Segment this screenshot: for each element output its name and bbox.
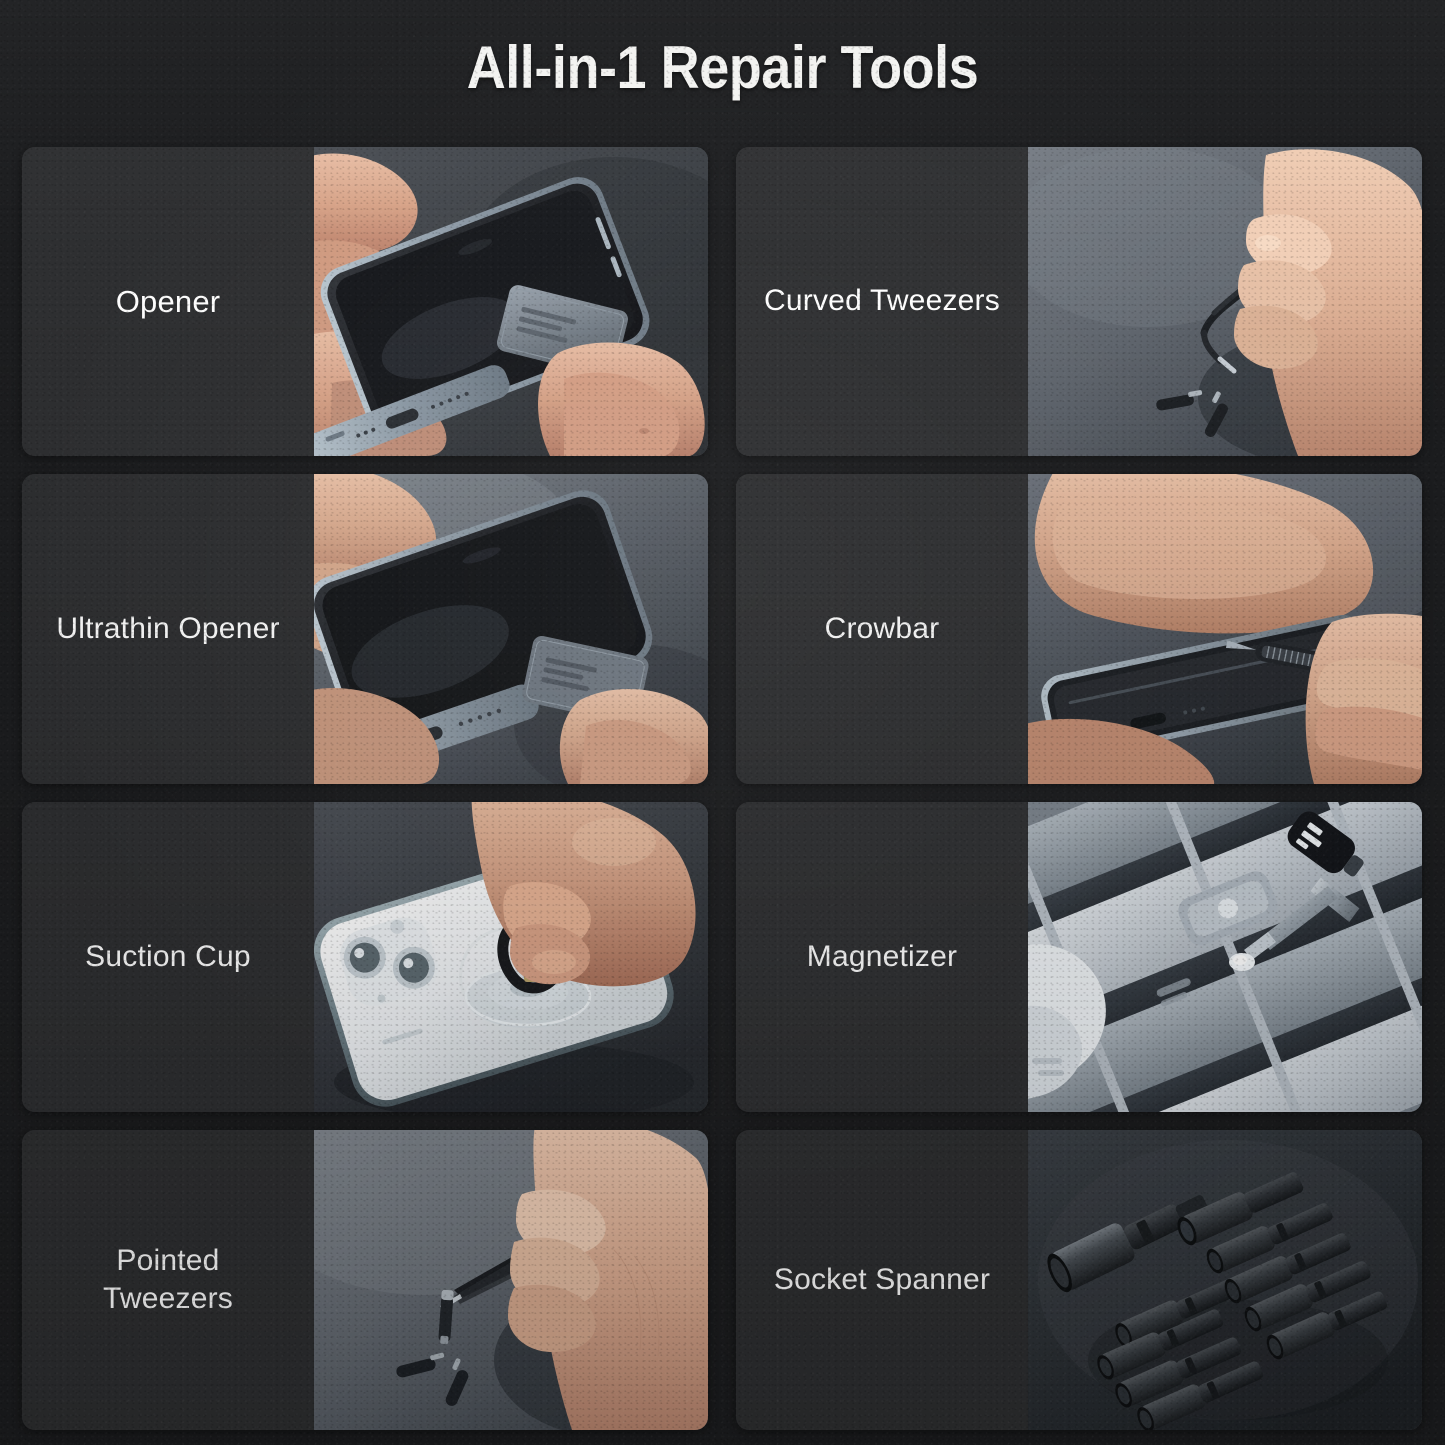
- tool-label: Suction Cup: [85, 938, 251, 976]
- tool-label: Crowbar: [825, 610, 940, 648]
- magnetizer-photo: [1028, 802, 1422, 1112]
- page-title: All-in-1 Repair Tools: [72, 33, 1373, 102]
- tool-card-curved-tweezers[interactable]: Curved Tweezers: [736, 147, 1422, 456]
- tool-card-crowbar[interactable]: Crowbar: [736, 474, 1422, 784]
- tool-label-pane: Magnetizer: [736, 802, 1028, 1112]
- tool-grid: Opener: [22, 147, 1422, 1422]
- socket-spanner-photo: [1028, 1130, 1422, 1430]
- opener-photo: [314, 147, 708, 456]
- tool-label: Socket Spanner: [774, 1261, 990, 1299]
- suction-cup-photo: [314, 802, 708, 1112]
- ultrathin-opener-photo: [314, 474, 708, 784]
- tool-card-magnetizer[interactable]: Magnetizer: [736, 802, 1422, 1112]
- tool-label-pane: Pointed Tweezers: [22, 1130, 314, 1430]
- tool-label-pane: Opener: [22, 147, 314, 456]
- tool-label-pane: Ultrathin Opener: [22, 474, 314, 784]
- crowbar-photo: [1028, 474, 1422, 784]
- tool-label-pane: Socket Spanner: [736, 1130, 1028, 1430]
- tool-card-suction-cup[interactable]: Suction Cup: [22, 802, 708, 1112]
- tool-card-pointed-tweezers[interactable]: Pointed Tweezers: [22, 1130, 708, 1430]
- tool-label: Pointed Tweezers: [103, 1242, 233, 1319]
- tool-label-pane: Crowbar: [736, 474, 1028, 784]
- tool-label-pane: Curved Tweezers: [736, 147, 1028, 456]
- tool-label: Ultrathin Opener: [56, 610, 279, 648]
- tool-label-pane: Suction Cup: [22, 802, 314, 1112]
- curved-tweezers-photo: [1028, 147, 1422, 456]
- tool-label: Opener: [116, 282, 221, 322]
- tool-card-socket-spanner[interactable]: Socket Spanner: [736, 1130, 1422, 1430]
- tool-label: Curved Tweezers: [764, 282, 1000, 320]
- tool-card-opener[interactable]: Opener: [22, 147, 708, 456]
- pointed-tweezers-photo: FAIREACH: [314, 1130, 708, 1430]
- tool-label: Magnetizer: [807, 938, 957, 976]
- tool-card-ultrathin-opener[interactable]: Ultrathin Opener: [22, 474, 708, 784]
